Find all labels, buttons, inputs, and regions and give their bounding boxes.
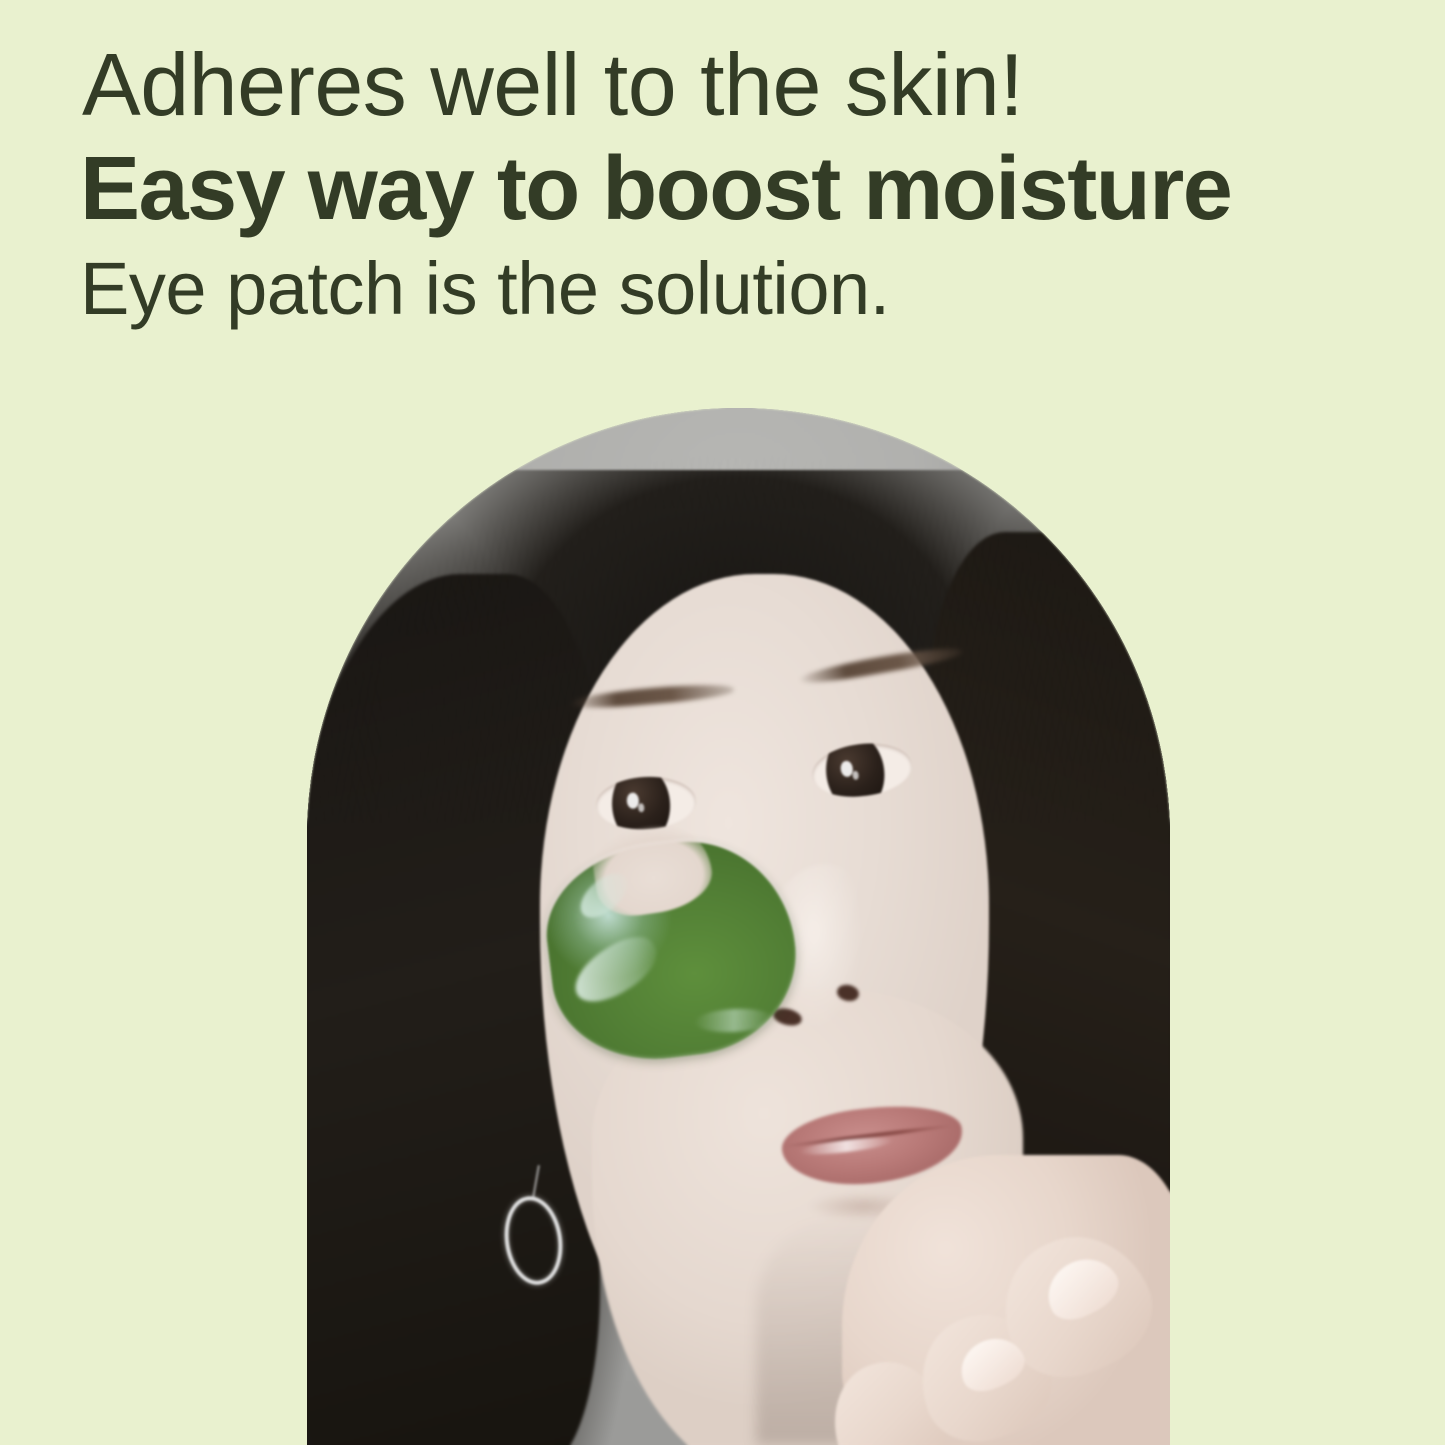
headline-line-1: Adheres well to the skin!: [82, 36, 1378, 135]
photo-backdrop: [307, 408, 1170, 1445]
eye-glint-secondary: [638, 803, 645, 813]
eyelash-left: [595, 775, 698, 798]
headline-line-3: Eye patch is the solution.: [80, 244, 1378, 334]
eye-glint-secondary: [851, 770, 859, 780]
headline-line-2: Easy way to boost moisture: [80, 135, 1378, 245]
headline-block: Adheres well to the skin! Easy way to bo…: [78, 36, 1378, 335]
product-photo: [307, 408, 1170, 1445]
